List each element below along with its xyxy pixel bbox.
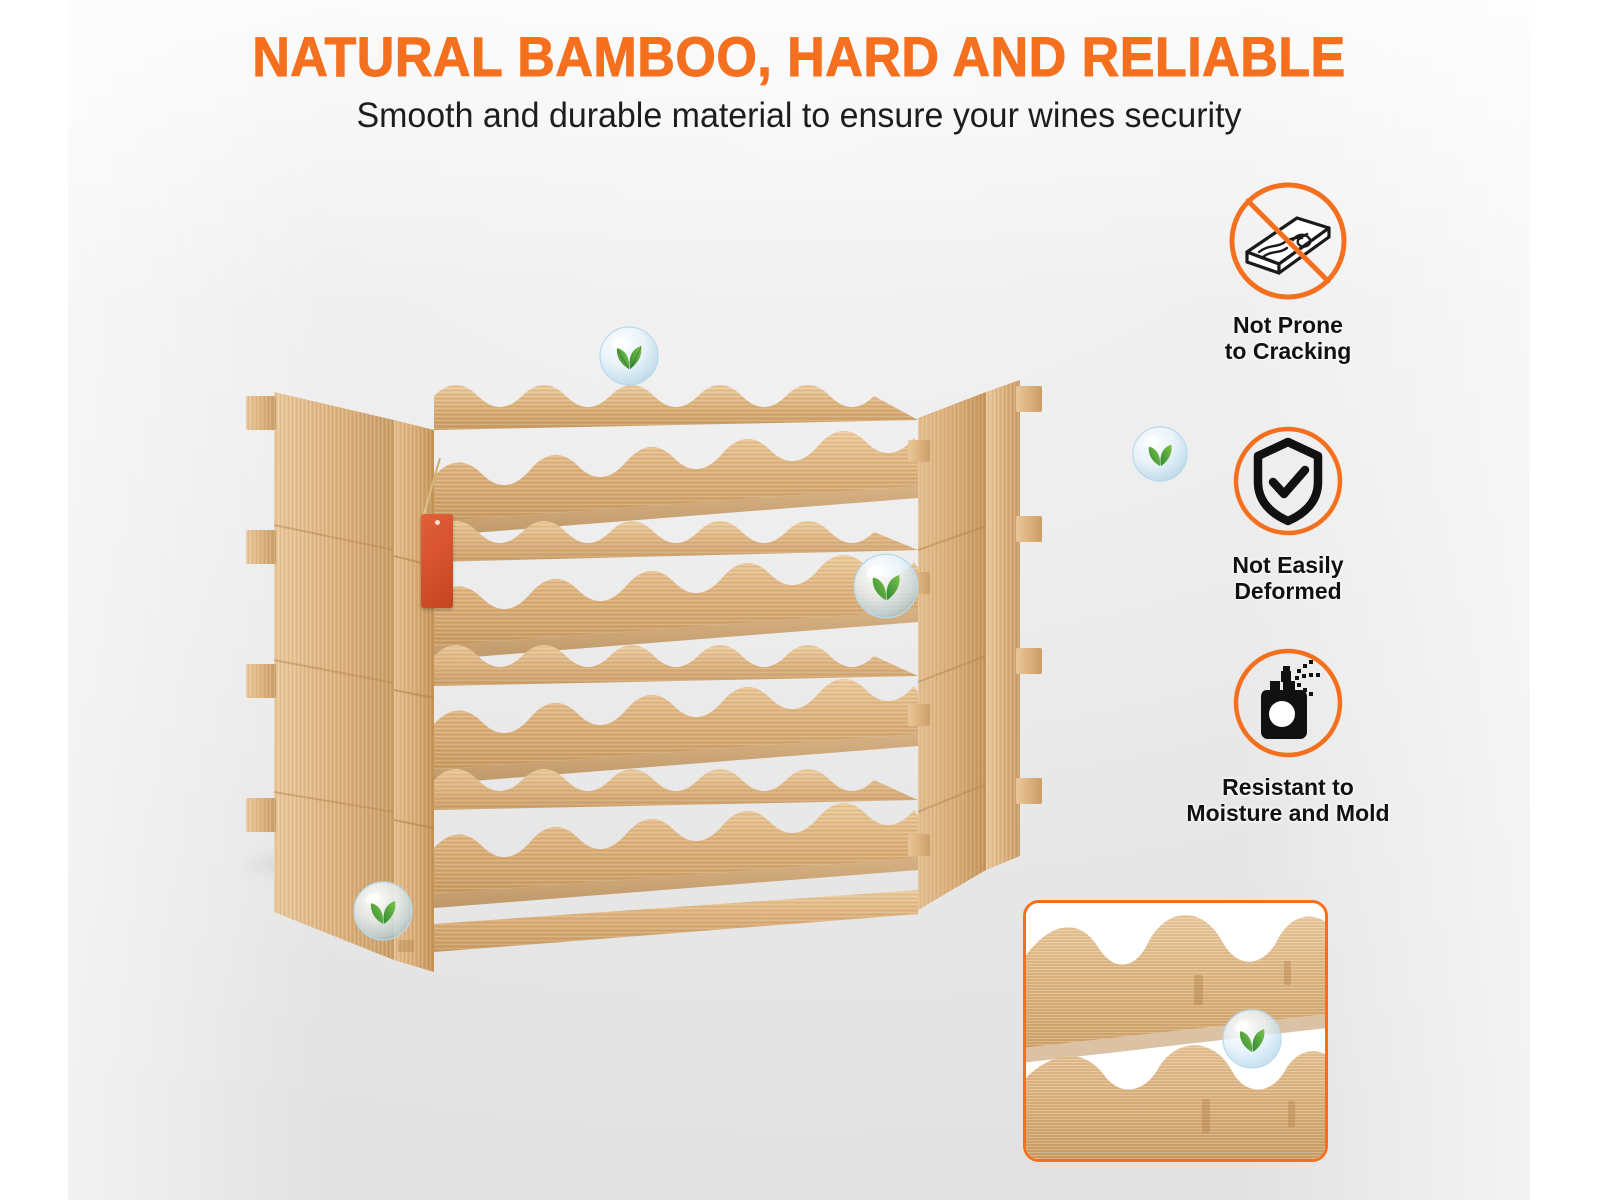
eco-leaf-bubble-top — [598, 325, 660, 387]
feature-not-easily-deformed: Not Easily Deformed — [1143, 418, 1433, 604]
right-side-panel — [918, 392, 986, 910]
feature-label: Not Prone to Cracking — [1143, 312, 1433, 364]
tag-card — [421, 514, 453, 608]
closeup-image — [1026, 903, 1325, 1159]
eco-leaf-bubble-inset — [1223, 1010, 1281, 1068]
product-hang-tag — [415, 458, 455, 608]
rail-tier-2-front — [434, 555, 918, 660]
spray-bottle-icon — [1225, 640, 1351, 766]
image-root: NATURAL BAMBOO, HARD AND RELIABLE Smooth… — [0, 0, 1600, 1200]
left-side-panel — [246, 392, 394, 960]
rail-tier-4-front — [434, 803, 918, 908]
page-subtitle: Smooth and durable material to ensure yo… — [90, 96, 1508, 136]
feature-resistant-to-moisture-and-mold: Resistant to Moisture and Mold — [1143, 640, 1433, 826]
bamboo-wine-rack — [218, 300, 1118, 980]
page-title: NATURAL BAMBOO, HARD AND RELIABLE — [119, 24, 1479, 89]
feature-not-prone-to-cracking: Not Prone to Cracking — [1143, 178, 1433, 364]
rail-tier-1-front — [434, 431, 918, 536]
rail-tier-1-back — [434, 385, 918, 430]
eco-leaf-bubble-middle — [852, 552, 920, 620]
photo-canvas: NATURAL BAMBOO, HARD AND RELIABLE Smooth… — [68, 0, 1530, 1200]
right-rear-post — [986, 380, 1042, 870]
feature-label: Resistant to Moisture and Mold — [1143, 774, 1433, 826]
tag-string — [422, 458, 441, 518]
tag-hole — [435, 520, 440, 525]
shield-check-icon — [1225, 418, 1351, 544]
rail-tier-3-front — [434, 679, 918, 784]
closeup-detail-panel — [1023, 900, 1328, 1162]
cracked-plank-prohibited-icon — [1225, 178, 1351, 304]
eco-leaf-bubble-bottom — [352, 880, 414, 942]
feature-label: Not Easily Deformed — [1143, 552, 1433, 604]
